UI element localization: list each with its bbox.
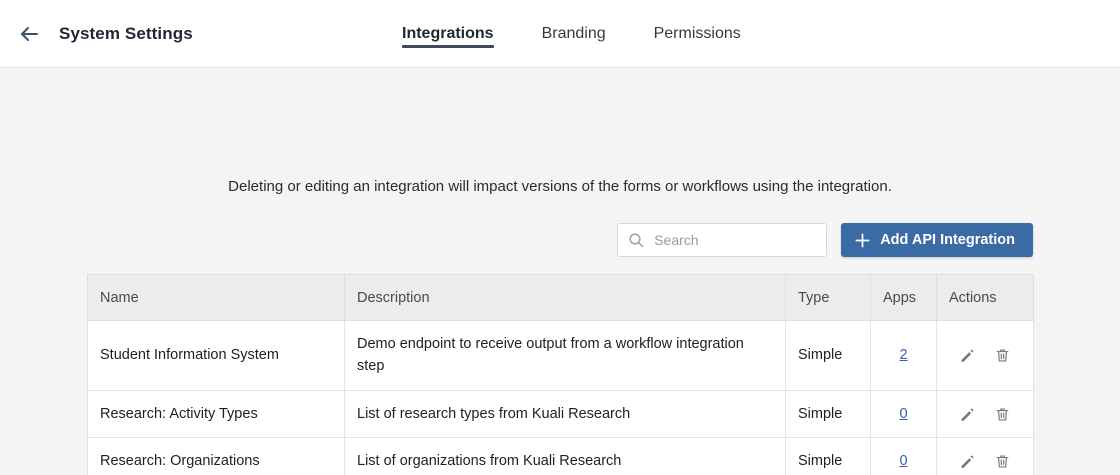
trash-icon	[994, 453, 1011, 470]
apps-count-link[interactable]: 0	[899, 406, 907, 422]
table-row: Student Information System Demo endpoint…	[88, 321, 1034, 391]
column-header-apps: Apps	[871, 275, 937, 321]
edit-button[interactable]	[952, 451, 983, 472]
app-header: System Settings Integrations Branding Pe…	[0, 0, 1120, 68]
column-header-description: Description	[345, 275, 786, 321]
back-button[interactable]	[10, 15, 48, 53]
column-header-actions: Actions	[937, 275, 1034, 321]
edit-button[interactable]	[952, 345, 983, 366]
pencil-icon	[959, 453, 976, 470]
table-body: Student Information System Demo endpoint…	[88, 321, 1034, 475]
table-row: Research: Activity Types List of researc…	[88, 390, 1034, 437]
table-row: Research: Organizations List of organiza…	[88, 438, 1034, 475]
column-header-name: Name	[88, 275, 345, 321]
cell-actions	[937, 390, 1034, 437]
cell-apps: 0	[871, 390, 937, 437]
cell-actions	[937, 321, 1034, 391]
integration-notice: Deleting or editing an integration will …	[0, 68, 1120, 195]
trash-icon	[994, 406, 1011, 423]
integrations-table-wrapper: Name Description Type Apps Actions Stude…	[87, 274, 1033, 475]
tab-integrations[interactable]: Integrations	[402, 0, 494, 68]
delete-button[interactable]	[987, 345, 1018, 366]
search-field	[617, 223, 827, 257]
apps-count-link[interactable]: 0	[899, 453, 907, 469]
plus-icon	[855, 233, 870, 248]
column-header-type: Type	[786, 275, 871, 321]
edit-button[interactable]	[952, 404, 983, 425]
cell-name: Student Information System	[88, 321, 345, 391]
cell-description: List of research types from Kuali Resear…	[345, 390, 786, 437]
tab-permissions[interactable]: Permissions	[654, 0, 741, 68]
cell-description: Demo endpoint to receive output from a w…	[345, 321, 786, 391]
table-toolbar: Add API Integration	[87, 223, 1033, 257]
cell-type: Simple	[786, 438, 871, 475]
settings-tabs: Integrations Branding Permissions	[402, 0, 741, 68]
cell-actions	[937, 438, 1034, 475]
trash-icon	[994, 347, 1011, 364]
arrow-left-icon	[17, 22, 41, 46]
table-head: Name Description Type Apps Actions	[88, 275, 1034, 321]
add-api-integration-label: Add API Integration	[880, 232, 1015, 248]
cell-type: Simple	[786, 390, 871, 437]
tab-branding[interactable]: Branding	[542, 0, 606, 68]
add-api-integration-button[interactable]: Add API Integration	[841, 223, 1033, 257]
search-input[interactable]	[617, 223, 827, 257]
cell-name: Research: Activity Types	[88, 390, 345, 437]
cell-apps: 2	[871, 321, 937, 391]
page-title: System Settings	[59, 24, 193, 44]
pencil-icon	[959, 406, 976, 423]
delete-button[interactable]	[987, 404, 1018, 425]
cell-type: Simple	[786, 321, 871, 391]
integrations-table: Name Description Type Apps Actions Stude…	[87, 274, 1034, 475]
table-header-row: Name Description Type Apps Actions	[88, 275, 1034, 321]
apps-count-link[interactable]: 2	[899, 347, 907, 363]
cell-apps: 0	[871, 438, 937, 475]
main-content: Deleting or editing an integration will …	[0, 68, 1120, 475]
delete-button[interactable]	[987, 451, 1018, 472]
cell-description: List of organizations from Kuali Researc…	[345, 438, 786, 475]
pencil-icon	[959, 347, 976, 364]
cell-name: Research: Organizations	[88, 438, 345, 475]
